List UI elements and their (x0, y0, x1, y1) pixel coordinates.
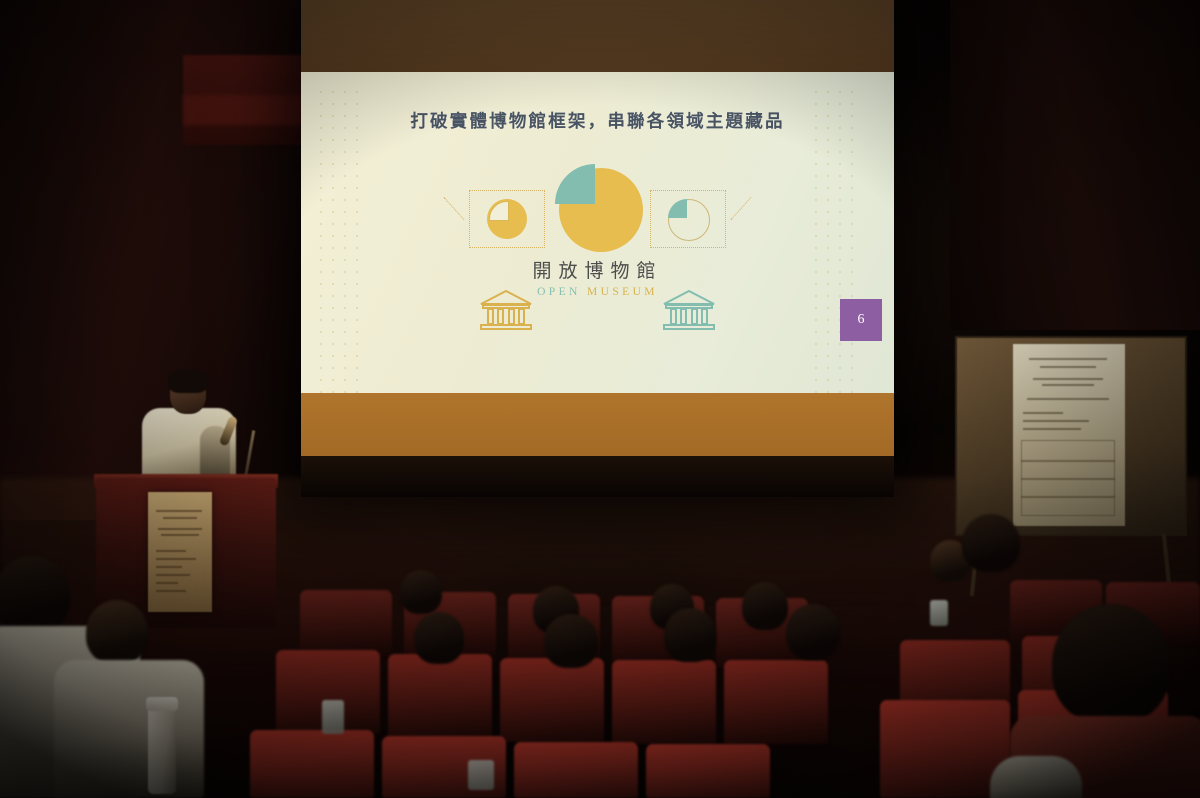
screen-frame-bottom (301, 456, 894, 497)
brand-name-english: OPEN MUSEUM (301, 286, 894, 298)
slide-title: 打破實體博物館框架，串聯各領域主題藏品 (301, 108, 894, 133)
audience-member (54, 660, 204, 798)
mini-pie-gold-icon (487, 199, 527, 239)
open-museum-logo: 開放博物館 OPEN MUSEUM (301, 160, 894, 350)
audience-member (962, 514, 1020, 572)
brand-name-chinese: 開放博物館 (301, 256, 894, 283)
table-row (250, 730, 374, 798)
mobile-phone (322, 700, 344, 734)
presentation-photo-scene: 打破實體博物館框架，串聯各領域主題藏品 (0, 0, 1200, 798)
audience-member (544, 614, 598, 668)
dotted-frame-left (469, 190, 545, 248)
table-row (500, 658, 604, 742)
water-bottle (148, 700, 176, 794)
brand-en-museum: MUSEUM (587, 286, 658, 298)
speaker-hair (168, 369, 208, 393)
logo-satellite-left (453, 168, 573, 338)
audience-member (664, 608, 716, 662)
screen-band-top (301, 0, 894, 72)
program-poster (1013, 344, 1125, 526)
brand-wordmark: 開放博物館 OPEN MUSEUM (301, 256, 894, 298)
mini-pie-teal-icon (668, 199, 710, 241)
audience-member (990, 756, 1082, 798)
easel-board (955, 336, 1187, 536)
stage-curtain-highlight (183, 95, 303, 125)
projection-screen: 打破實體博物館框架，串聯各領域主題藏品 (301, 0, 894, 497)
screen-band-bottom (301, 393, 894, 456)
mini-pie-cut-slice (489, 201, 509, 221)
audience-member (0, 556, 70, 634)
table-row (514, 742, 638, 798)
right-wall (950, 0, 1200, 330)
logo-satellite-right (622, 168, 742, 338)
audience-member (786, 604, 840, 660)
slide-page-number-badge: 6 (840, 299, 882, 341)
audience-member (1052, 604, 1170, 724)
connector-line-left-icon (444, 197, 465, 220)
audience-member (414, 612, 464, 664)
podium-poster (148, 492, 212, 612)
table-row (724, 660, 828, 744)
mobile-phone (468, 760, 494, 790)
table-row (612, 660, 716, 744)
mobile-phone (930, 600, 948, 626)
table-row (646, 744, 770, 798)
audience-member (400, 570, 442, 614)
audience-member (742, 582, 788, 630)
water-bottle-cap (146, 697, 178, 711)
dotted-frame-right (650, 190, 726, 248)
mini-pie-teal-slice (668, 199, 687, 218)
audience-member (86, 600, 148, 664)
table-row (388, 654, 492, 738)
brand-en-open: OPEN (537, 286, 581, 298)
connector-line-right-icon (731, 197, 752, 220)
